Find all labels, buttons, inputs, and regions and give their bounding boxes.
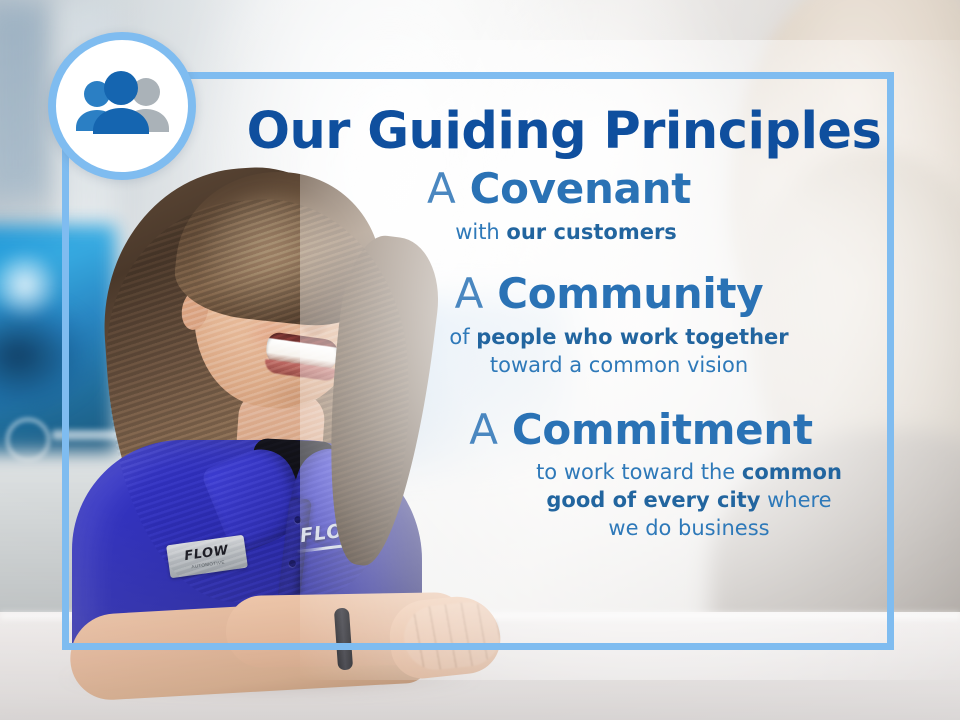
text-run-bold: common [742,460,842,484]
principle-word: Commitment [512,405,813,454]
people-group-badge [48,32,196,180]
text-run-bold: good of every city [546,488,760,512]
principle-description: with our customers [218,219,900,247]
text-run: where [760,488,831,512]
text-run-bold: our customers [506,220,676,244]
guiding-principles-banner: FLOW AUTOMOTIVE FLOW [0,0,960,720]
principle-description: to work toward the common good of every … [382,459,900,543]
principle-covenant: A Covenant with our customers [200,167,900,246]
principle-word: Covenant [470,164,691,213]
principle-description: of people who work together toward a com… [318,324,900,380]
principle-line: toward a common vision [338,352,900,380]
principle-article: A [455,269,484,318]
text-run: toward a common vision [490,353,748,377]
principle-heading: A Community [318,272,900,317]
text-run-bold: people who work together [476,325,788,349]
principle-word: Community [497,269,763,318]
text-run: with [455,220,506,244]
principle-line: with our customers [232,219,900,247]
principle-line: to work toward the common [478,459,900,487]
principle-line: we do business [478,515,900,543]
principles-content: Our Guiding Principles A Covenant with o… [200,72,900,650]
principle-commitment: A Commitment to work toward the common g… [200,408,900,543]
page-title: Our Guiding Principles [200,106,900,157]
principle-line: good of every city where [478,487,900,515]
text-run: to work toward the [536,460,742,484]
people-group-icon [70,70,174,142]
principle-community: A Community of people who work together … [200,272,900,379]
principle-line: of people who work together [338,324,900,352]
principle-heading: A Covenant [218,167,900,212]
text-run: of [449,325,476,349]
principle-heading: A Commitment [382,408,900,453]
text-run: we do business [608,516,769,540]
principle-article: A [427,164,456,213]
principle-article: A [469,405,498,454]
